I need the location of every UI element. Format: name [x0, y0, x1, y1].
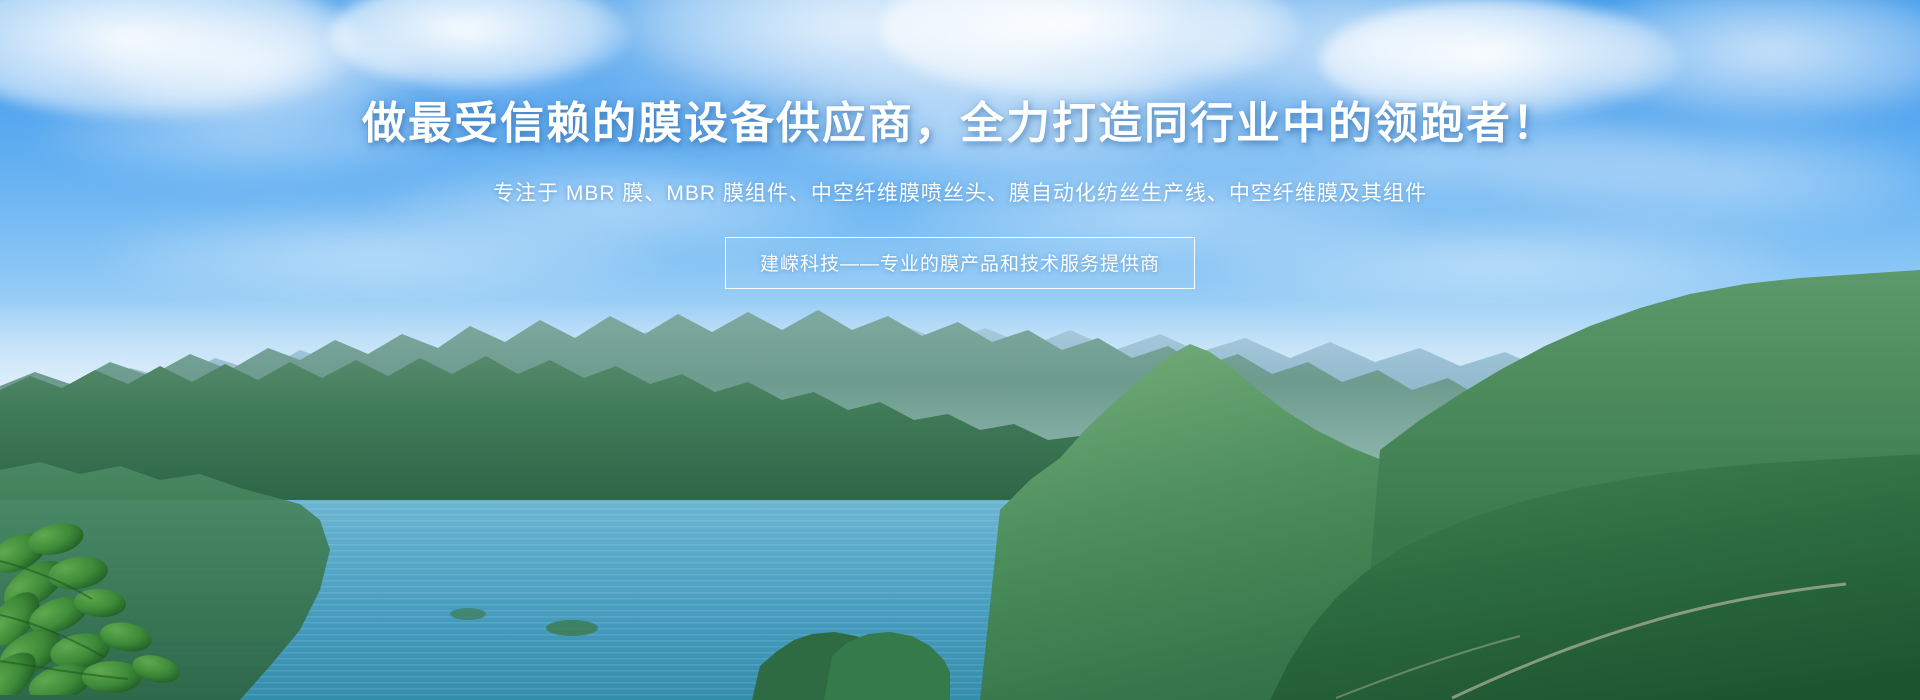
banner-headline: 做最受信赖的膜设备供应商，全力打造同行业中的领跑者！: [0, 0, 1920, 150]
water-shimmer: [0, 400, 1920, 700]
banner-subhead: 专注于 MBR 膜、MBR 膜组件、中空纤维膜喷丝头、膜自动化纺丝生产线、中空纤…: [0, 150, 1920, 210]
hero-banner: 做最受信赖的膜设备供应商，全力打造同行业中的领跑者！ 专注于 MBR 膜、MBR…: [0, 0, 1920, 700]
banner-tagline-wrap: 建嵘科技——专业的膜产品和技术服务提供商: [0, 209, 1920, 289]
banner-copy: 做最受信赖的膜设备供应商，全力打造同行业中的领跑者！ 专注于 MBR 膜、MBR…: [0, 0, 1920, 289]
banner-tagline-box: 建嵘科技——专业的膜产品和技术服务提供商: [725, 237, 1195, 289]
